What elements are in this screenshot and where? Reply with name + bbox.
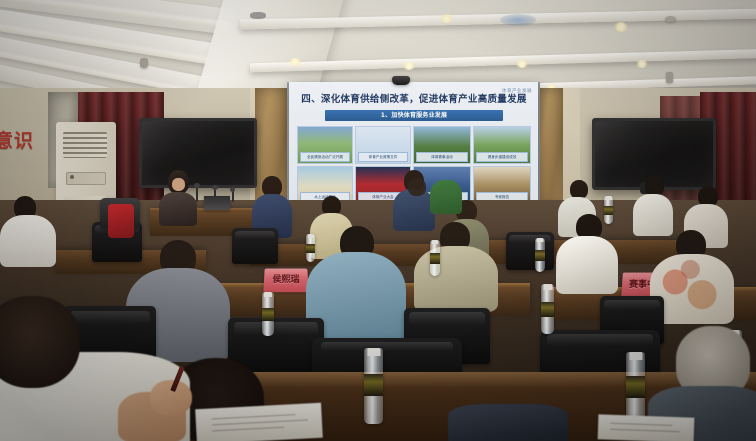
slide-tile: 专家报告 [473, 166, 531, 204]
ac-indicator-light [70, 175, 74, 179]
chair-highlight [604, 300, 660, 311]
red-jacket [108, 204, 134, 238]
presenter-face [172, 178, 185, 191]
wall-banner-text: 意识 [0, 126, 34, 153]
attendee-head [408, 178, 426, 196]
microphone-head-icon [194, 183, 200, 188]
tile-caption: 全民健身活动广泛开展 [300, 152, 350, 162]
bottle-cap [629, 352, 642, 360]
attendee-body [0, 215, 56, 267]
chair[interactable] [506, 232, 554, 270]
bottle-cap [264, 292, 272, 297]
bottle-label [604, 206, 613, 215]
tile-caption: 体育产业政策文件 [358, 152, 408, 162]
water-bottle[interactable] [535, 238, 545, 272]
microphone-head-icon [230, 187, 235, 192]
screen-glare [142, 121, 254, 185]
downlight [614, 22, 628, 32]
ceiling-camera-icon [392, 76, 410, 85]
document[interactable] [195, 403, 323, 441]
chair-highlight [409, 312, 485, 324]
meeting-room-photo: 意识 体育产业发展 四、深化体育供给侧改革，促进体育产业高质量发展 1、加快体育… [0, 0, 756, 441]
water-bottle[interactable] [604, 196, 613, 224]
document-line [212, 427, 284, 432]
nameplate-text: 侯熙瑞 [263, 269, 308, 293]
chair-highlight [235, 231, 275, 239]
document-line [610, 423, 672, 426]
chair-highlight [70, 311, 151, 324]
bottle-label [541, 302, 554, 317]
downlight [440, 14, 453, 23]
foreground-attendee-center [448, 404, 568, 441]
chair-highlight [321, 342, 453, 352]
bottle-label [262, 308, 274, 321]
bottle-label [626, 376, 645, 398]
ceiling-vent [500, 14, 536, 26]
ceiling-vent [250, 12, 266, 19]
bottle-cap [606, 196, 612, 200]
wall-display-left[interactable] [139, 118, 257, 188]
water-bottle[interactable] [262, 292, 274, 336]
bottle-label [306, 244, 315, 253]
attendee-head [645, 176, 664, 196]
bottle-cap [543, 284, 552, 290]
slide-subtitle: 1、加快体育服务业发展 [325, 110, 503, 121]
bottle-label [364, 374, 383, 396]
attendee-body [556, 236, 618, 294]
chair-highlight [547, 334, 653, 345]
slide-tile: 全民健身活动广泛开展 [297, 126, 353, 164]
ceiling-sprinkler [140, 58, 148, 68]
slide-subtitle-bar: 1、加快体育服务业发展 [325, 110, 503, 121]
water-bottle[interactable] [306, 234, 315, 262]
ceiling-sprinkler [666, 72, 673, 83]
microphone-stem [196, 186, 198, 202]
foreground-attendee-left [0, 296, 80, 388]
downlight [516, 60, 528, 68]
attendee-body [633, 194, 673, 236]
attendee-body [414, 246, 498, 312]
microphone-head-icon [212, 185, 218, 190]
slide-tile: 健身步道建设成效 [473, 126, 531, 164]
bottle-cap [432, 240, 439, 244]
wood-column-right [537, 88, 563, 206]
tile-caption: 健身步道建设成效 [476, 152, 528, 162]
document-line [610, 429, 680, 432]
bottle-cap [367, 348, 380, 356]
chair[interactable] [232, 228, 278, 264]
tile-caption: 体育赛事活动 [416, 152, 468, 162]
ac-grill-icon [63, 132, 107, 158]
document[interactable] [598, 414, 695, 441]
nameplate: 侯熙瑞 [263, 269, 308, 293]
bottle-label [430, 253, 440, 264]
ceiling [0, 0, 756, 92]
presenter-body [159, 192, 197, 226]
attendee-body [430, 180, 462, 214]
water-bottle[interactable] [364, 348, 383, 424]
water-bottle[interactable] [541, 284, 554, 334]
bottle-cap [537, 238, 544, 242]
downlight [403, 62, 415, 70]
chair-highlight [234, 322, 318, 334]
slide-tile: 体育赛事活动 [413, 126, 471, 164]
smoke-detector [665, 16, 676, 22]
slide-title: 四、深化体育供给侧改革，促进体育产业高质量发展 [299, 91, 529, 105]
laptop[interactable] [204, 196, 230, 210]
water-bottle[interactable] [626, 352, 645, 424]
downlight [636, 60, 648, 68]
downlight [289, 58, 301, 66]
slide-tile: 体育产业政策文件 [355, 126, 411, 164]
bottle-cap [308, 234, 314, 238]
document-line [212, 419, 308, 425]
water-bottle[interactable] [430, 240, 440, 276]
bottle-label [535, 250, 545, 261]
document-line [212, 414, 296, 419]
